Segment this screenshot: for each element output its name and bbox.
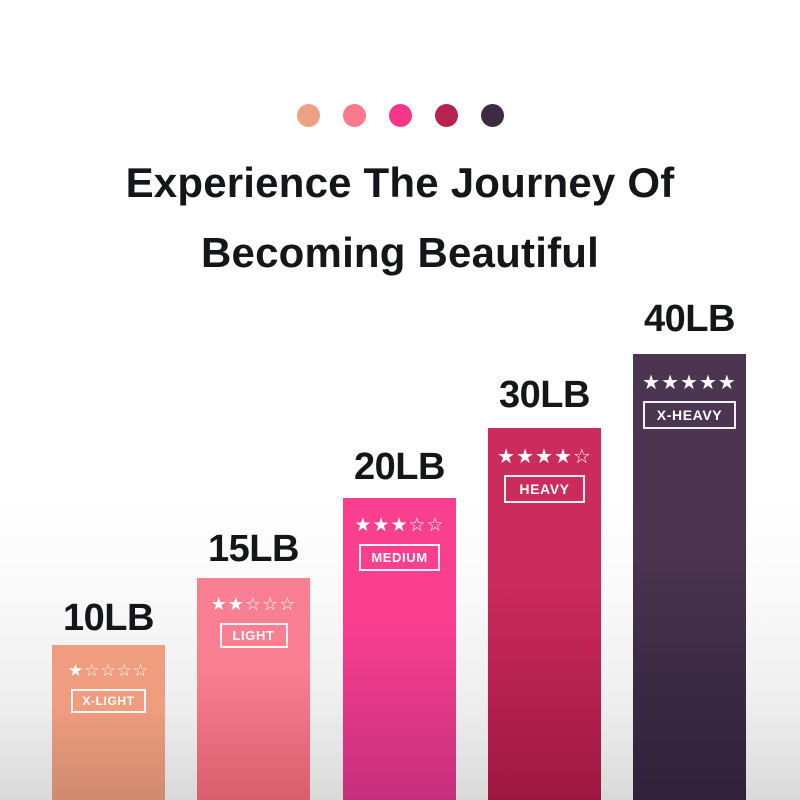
bar-15lb-weight-label: 15LB [197,530,310,568]
bar-20lb-column: ★★★☆☆MEDIUM [343,498,456,800]
bar-20lb-weight-label: 20LB [343,448,456,486]
bar-30lb-star-rating-icon: ★★★★☆ [497,446,592,466]
bar-10lb-column: ★☆☆☆☆X-LIGHT [52,645,165,800]
bar-15lb-level-badge: LIGHT [220,623,288,648]
bar-20lb[interactable]: 20LB★★★☆☆MEDIUM [343,498,456,800]
bar-40lb-star-rating-icon: ★★★★★ [642,372,737,392]
bar-30lb-column: ★★★★☆HEAVY [488,428,601,800]
product-poster: Experience The Journey Of Becoming Beaut… [0,0,800,800]
bar-40lb-level-badge: X-HEAVY [643,401,736,429]
resistance-bar-chart: 10LB★☆☆☆☆X-LIGHT15LB★★☆☆☆LIGHT20LB★★★☆☆M… [0,0,800,800]
bar-15lb-star-rating-icon: ★★☆☆☆ [211,596,297,614]
bar-10lb[interactable]: 10LB★☆☆☆☆X-LIGHT [52,645,165,800]
bar-20lb-level-badge: MEDIUM [359,544,439,571]
bar-40lb-column: ★★★★★X-HEAVY [633,354,746,800]
bar-10lb-weight-label: 10LB [52,599,165,637]
bar-20lb-star-rating-icon: ★★★☆☆ [354,516,444,535]
bar-15lb[interactable]: 15LB★★☆☆☆LIGHT [197,578,310,800]
bar-10lb-level-badge: X-LIGHT [71,689,145,713]
bar-40lb-weight-label: 40LB [633,300,746,338]
bar-10lb-star-rating-icon: ★☆☆☆☆ [68,663,149,680]
bar-30lb-level-badge: HEAVY [504,475,584,503]
bar-30lb-weight-label: 30LB [488,376,601,414]
bar-30lb[interactable]: 30LB★★★★☆HEAVY [488,428,601,800]
bar-15lb-column: ★★☆☆☆LIGHT [197,578,310,800]
bar-40lb[interactable]: 40LB★★★★★X-HEAVY [633,354,746,800]
